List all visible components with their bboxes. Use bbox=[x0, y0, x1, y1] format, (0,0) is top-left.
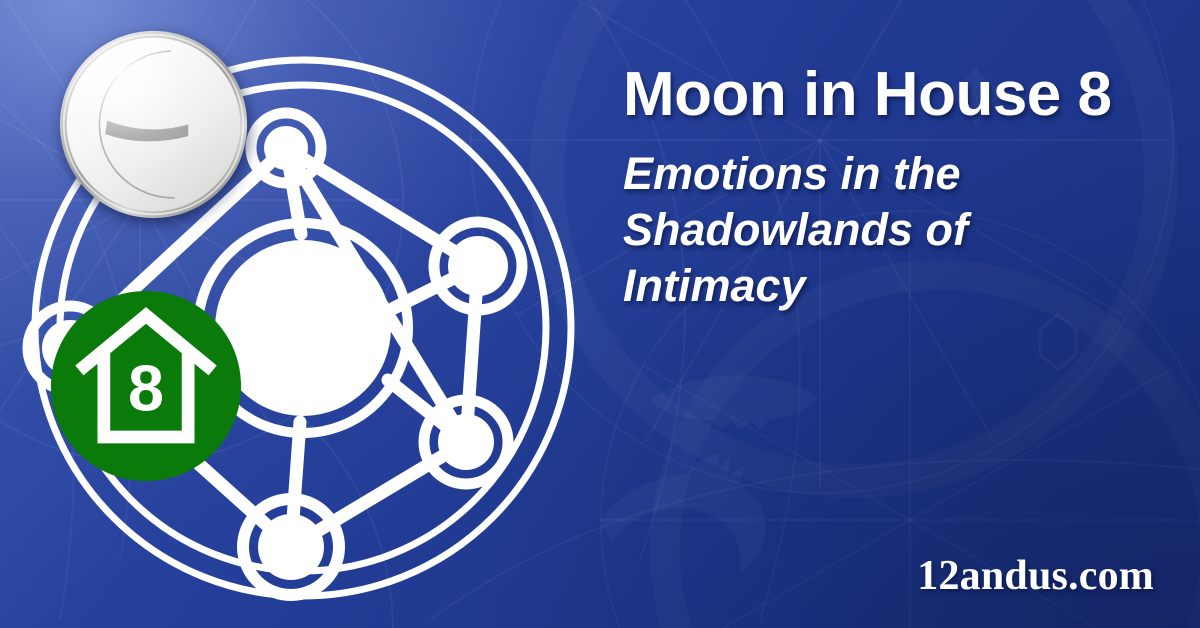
share-banner: 8 Moon in House 8 Emotions in the Shadow… bbox=[0, 0, 1200, 628]
headline-block: Moon in House 8 Emotions in the Shadowla… bbox=[623, 58, 1183, 314]
page-subtitle: Emotions in the Shadowlands of Intimacy bbox=[623, 146, 1013, 314]
house-number-badge: 8 bbox=[48, 288, 244, 484]
page-title: Moon in House 8 bbox=[623, 58, 1183, 132]
moon-planet-badge bbox=[57, 28, 250, 221]
moon-badge-gloss bbox=[67, 38, 241, 212]
house-number: 8 bbox=[128, 352, 164, 425]
brand-watermark: 12andus.com bbox=[917, 552, 1154, 600]
